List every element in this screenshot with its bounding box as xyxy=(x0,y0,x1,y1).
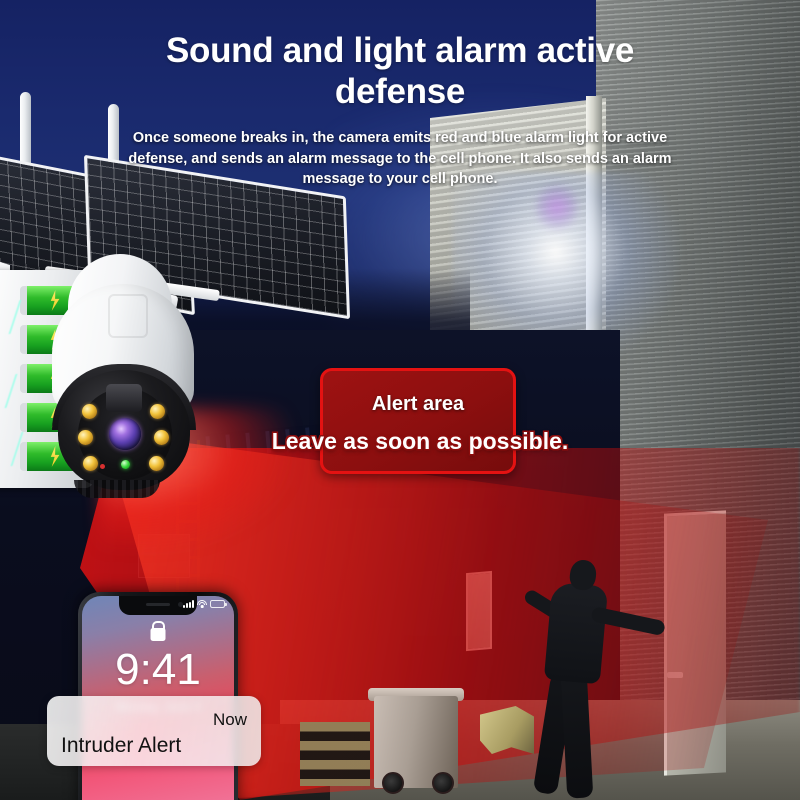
red-status-led xyxy=(100,464,105,469)
camera-base-vent xyxy=(74,480,160,498)
notification-banner[interactable]: Now Intruder Alert xyxy=(47,696,261,766)
ir-led xyxy=(82,404,97,419)
camera-lens xyxy=(109,418,141,450)
lock-icon xyxy=(151,628,166,641)
ir-led xyxy=(83,456,98,471)
description-text: Once someone breaks in, the camera emits… xyxy=(120,128,680,190)
lock-screen-time: 9:41 xyxy=(82,648,234,692)
phone-status-bar xyxy=(183,600,225,608)
ir-led xyxy=(154,430,169,445)
door-handle xyxy=(667,672,683,678)
wifi-icon xyxy=(197,600,207,608)
wooden-pallets xyxy=(300,722,370,786)
battery-icon xyxy=(210,600,225,608)
earpiece-speaker xyxy=(146,603,170,606)
camera-dome-seam xyxy=(108,294,148,338)
alert-area-box: Alert area xyxy=(320,368,516,474)
promo-image: Sound and light alarm active defense Onc… xyxy=(0,0,800,800)
notification-title: Intruder Alert xyxy=(61,734,181,758)
alert-area-label: Alert area xyxy=(323,393,513,416)
sensor-window xyxy=(106,384,142,412)
ir-led xyxy=(78,430,93,445)
green-status-led xyxy=(121,460,130,469)
trash-bin-wheel xyxy=(382,772,404,794)
ac-unit-box xyxy=(138,534,190,578)
notification-timestamp: Now xyxy=(213,710,247,730)
trash-bin-wheel xyxy=(432,772,454,794)
page-title: Sound and light alarm active defense xyxy=(110,30,690,113)
intruder-silhouette xyxy=(508,560,638,800)
ir-led xyxy=(149,456,164,471)
warehouse-door xyxy=(664,510,726,775)
alert-warning-text: Leave as soon as possible. xyxy=(255,428,585,455)
building-window xyxy=(466,571,492,651)
ir-led xyxy=(150,404,165,419)
cellular-signal-icon xyxy=(183,600,194,608)
